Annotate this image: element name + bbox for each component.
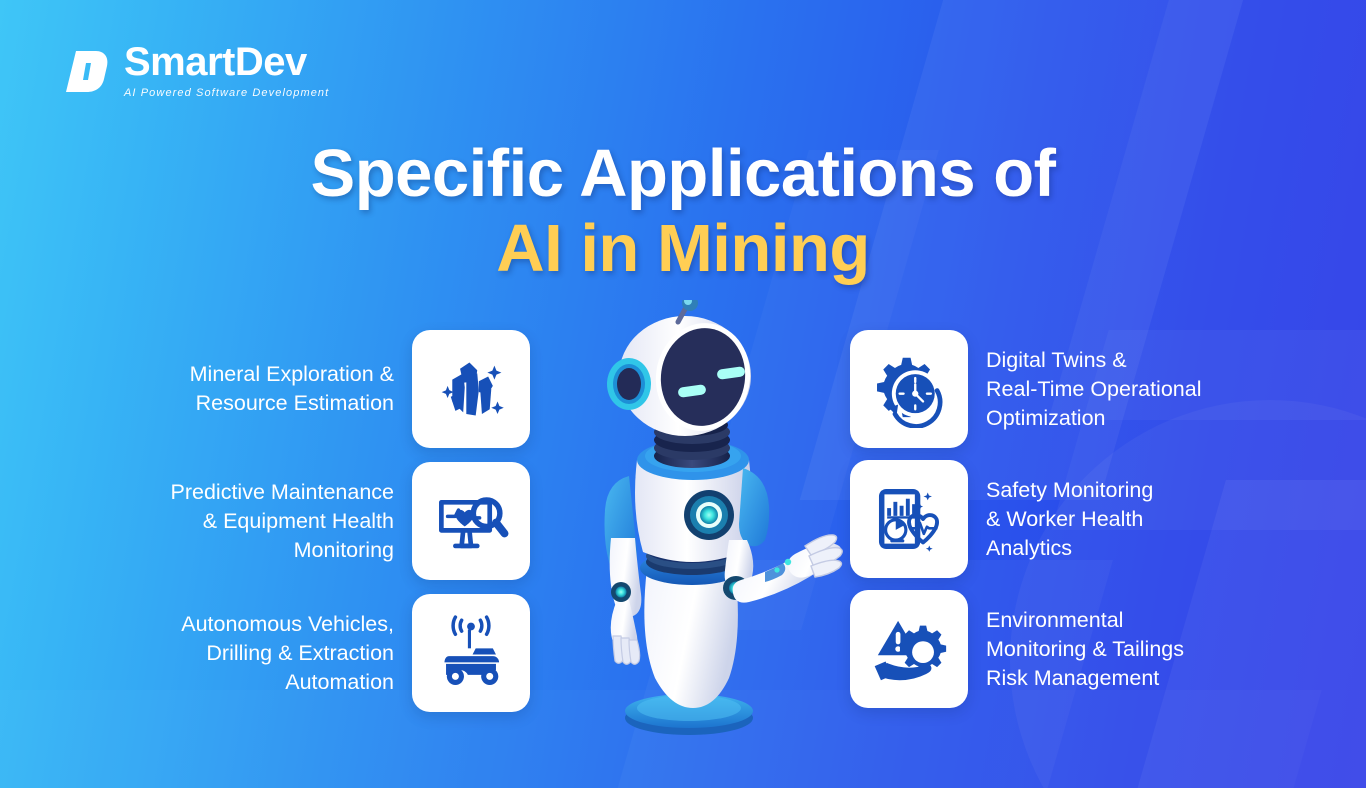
monitor-heartbeat-magnifier-icon: [432, 482, 510, 560]
crystal-gems-icon: [432, 350, 510, 428]
left-items-column: Mineral Exploration & Resource Estimatio…: [70, 330, 530, 712]
icon-card[interactable]: [412, 594, 530, 712]
item-label: Mineral Exploration & Resource Estimatio…: [190, 360, 394, 418]
item-label: Autonomous Vehicles, Drilling & Extracti…: [181, 610, 394, 697]
ai-robot-mascot: [537, 300, 847, 740]
brand-name: SmartDev: [124, 42, 329, 82]
brand-logo: SmartDev AI Powered Software Development: [64, 42, 329, 99]
icon-card[interactable]: [412, 330, 530, 448]
icon-card[interactable]: [850, 590, 968, 708]
icon-card[interactable]: [850, 330, 968, 448]
gear-clock-icon: [870, 350, 948, 428]
list-item[interactable]: Predictive Maintenance & Equipment Healt…: [70, 462, 530, 580]
list-item[interactable]: Mineral Exploration & Resource Estimatio…: [70, 330, 530, 448]
title-line-2: AI in Mining: [0, 211, 1366, 286]
page-title: Specific Applications of AI in Mining: [0, 136, 1366, 286]
item-label: Environmental Monitoring & Tailings Risk…: [986, 606, 1184, 693]
list-item[interactable]: Safety Monitoring & Worker Health Analyt…: [850, 460, 1320, 578]
item-label: Safety Monitoring & Worker Health Analyt…: [986, 476, 1153, 563]
smartdev-d-mark-icon: [64, 47, 110, 95]
infographic-canvas: SmartDev AI Powered Software Development…: [0, 0, 1366, 788]
list-item[interactable]: Environmental Monitoring & Tailings Risk…: [850, 590, 1320, 708]
warning-gear-hand-icon: [870, 610, 948, 688]
list-item[interactable]: Digital Twins & Real-Time Operational Op…: [850, 330, 1320, 448]
item-label: Digital Twins & Real-Time Operational Op…: [986, 346, 1201, 433]
analytics-heart-pulse-icon: [870, 480, 948, 558]
item-label: Predictive Maintenance & Equipment Healt…: [171, 478, 394, 565]
autonomous-rover-signal-icon: [432, 614, 510, 692]
title-line-1: Specific Applications of: [0, 136, 1366, 211]
brand-tagline: AI Powered Software Development: [124, 88, 329, 99]
icon-card[interactable]: [412, 462, 530, 580]
robot-illustration: [537, 300, 847, 740]
right-items-column: Digital Twins & Real-Time Operational Op…: [850, 330, 1320, 708]
icon-card[interactable]: [850, 460, 968, 578]
list-item[interactable]: Autonomous Vehicles, Drilling & Extracti…: [70, 594, 530, 712]
